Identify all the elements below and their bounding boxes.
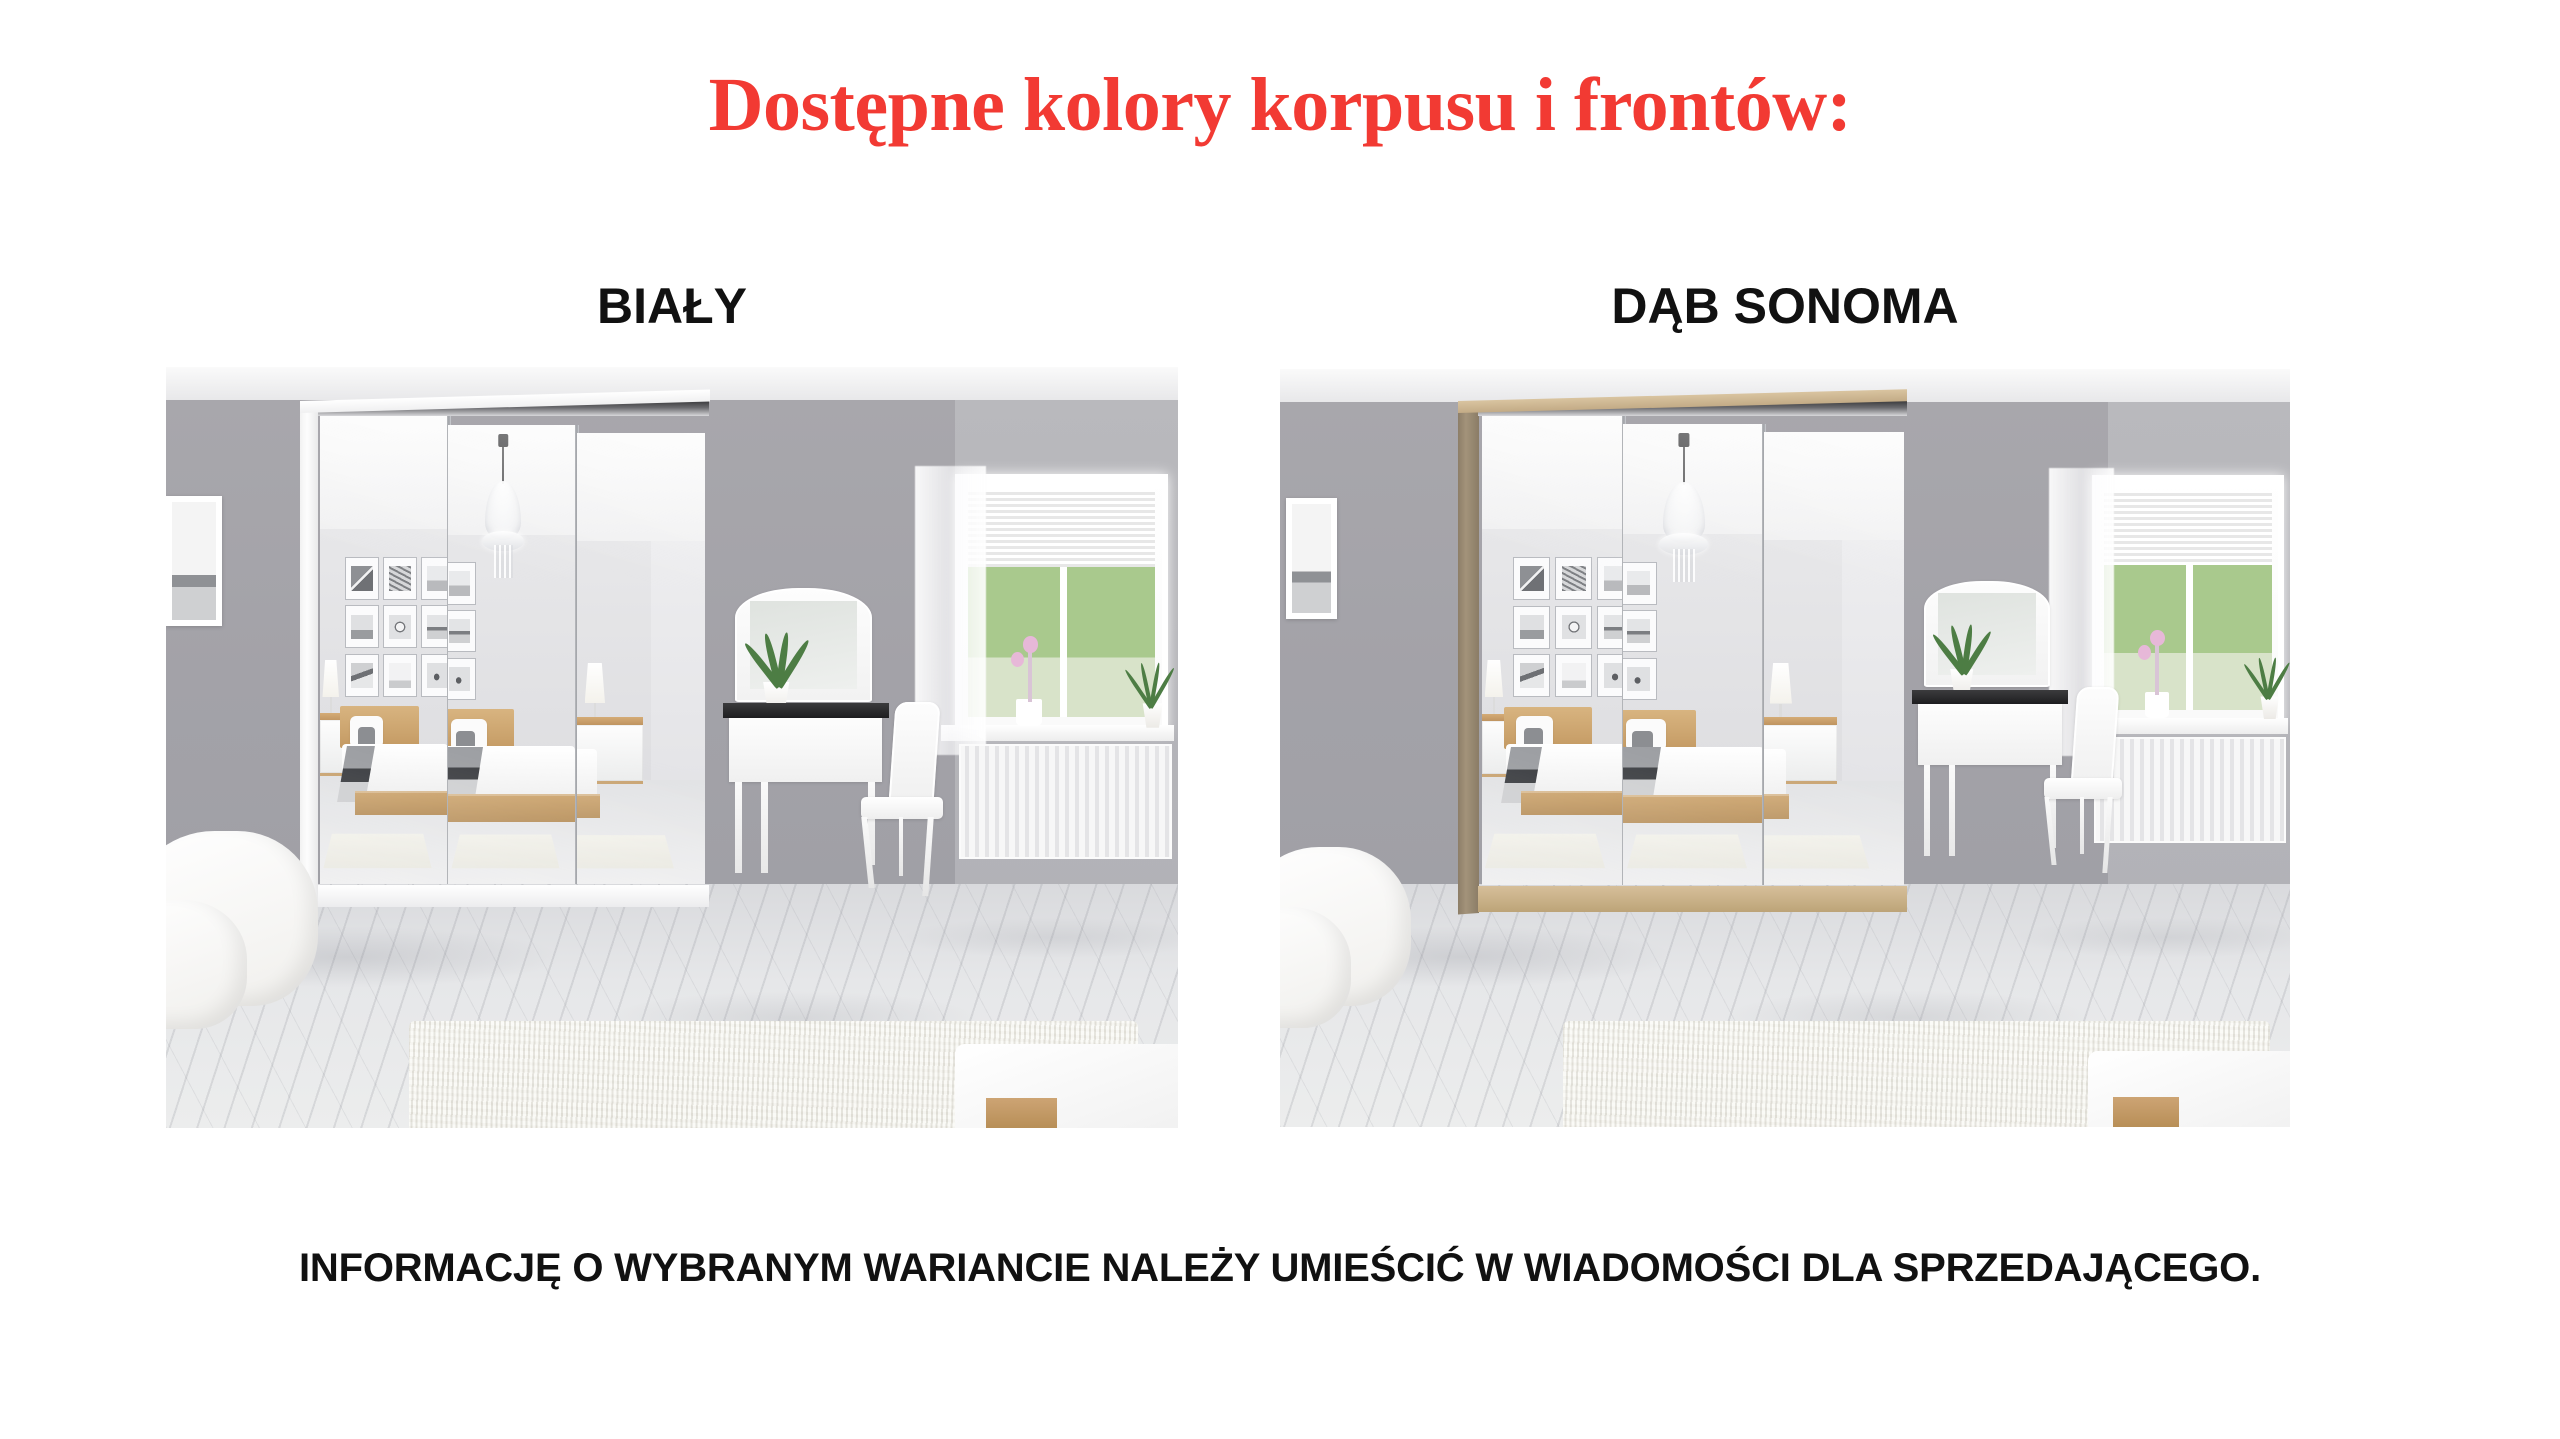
- mirror-reflection-3: [1764, 432, 1904, 885]
- picture-image: [1520, 566, 1544, 591]
- picture-image: [389, 663, 410, 688]
- reflected-rug: [1485, 834, 1605, 868]
- chandelier-crystals: [494, 545, 513, 577]
- vanity-leg: [1924, 765, 1930, 856]
- wall-art-frame: [166, 496, 222, 625]
- picture-frame: [1597, 606, 1623, 649]
- reflected-ceiling: [320, 416, 447, 538]
- mirror-door-3[interactable]: [577, 433, 705, 884]
- mirror-reflection-1: [1482, 416, 1623, 885]
- wardrobe-side-panel: [1458, 401, 1479, 914]
- wardrobe-plinth: [318, 885, 710, 907]
- reflected-side-wall: [1842, 540, 1903, 785]
- variant-label-sonoma: DĄB SONOMA: [1280, 277, 2290, 335]
- vanity-chair: [2038, 687, 2144, 877]
- reflected-dresser-top: [1764, 717, 1837, 725]
- reflected-lamp-shade: [585, 663, 605, 704]
- reflected-picture-grid: [345, 557, 447, 697]
- picture-frame: [383, 605, 416, 648]
- vanity-leg: [1949, 765, 1955, 856]
- mirror-door-3[interactable]: [1764, 432, 1904, 885]
- picture-frame: [421, 605, 447, 648]
- picture-image: [1604, 663, 1623, 688]
- picture-frame: [1623, 562, 1657, 604]
- chair-leg: [2080, 797, 2084, 854]
- radiator: [959, 744, 1172, 858]
- wardrobe-side-panel: [300, 401, 318, 908]
- reflected-rug: [577, 835, 674, 868]
- picture-frame: [421, 654, 447, 697]
- vanity-aloe-plant: [751, 632, 808, 687]
- mirror-reflection-2: [1623, 424, 1764, 885]
- picture-frame: [1513, 606, 1550, 649]
- reflected-ceiling: [1764, 432, 1904, 550]
- reflected-rug: [323, 833, 431, 867]
- picture-frame: [1623, 658, 1657, 700]
- reflected-bed-base: [1521, 791, 1623, 815]
- reflected-bed-base: [1764, 794, 1789, 818]
- wardrobe-front: [1478, 401, 1907, 913]
- picture-frame: [1555, 557, 1592, 600]
- picture-frame: [448, 562, 476, 604]
- picture-image: [1520, 615, 1544, 640]
- mirror-reflection-2: [448, 425, 575, 885]
- picture-frame: [383, 654, 416, 697]
- vanity-chair: [854, 702, 965, 900]
- color-variants-page: Dostępne kolory korpusu i frontów: BIAŁY…: [0, 0, 2560, 1439]
- picture-image: [449, 619, 470, 643]
- vanity-leg: [761, 782, 768, 873]
- chair-backrest: [2070, 687, 2119, 786]
- vanity-leg: [735, 782, 742, 873]
- picture-image: [1604, 615, 1623, 640]
- reflected-mattress: [1764, 749, 1786, 799]
- bed-corner-wood: [986, 1098, 1057, 1128]
- reflected-lamp-shade: [1485, 660, 1503, 697]
- picture-image: [351, 663, 372, 688]
- bedroom-scene-sonoma: [1280, 369, 2290, 1127]
- aloe-plant: [1133, 662, 1167, 708]
- mirror-reflection-3: [577, 433, 705, 884]
- wardrobe-plinth: [1478, 886, 1907, 913]
- picture-image: [1627, 667, 1651, 691]
- wall-art-image: [172, 502, 216, 619]
- variant-photo-white: [166, 367, 1178, 1128]
- chair-seat: [861, 797, 943, 819]
- wall-art-frame: [1286, 498, 1337, 619]
- reflected-chandelier: [1658, 433, 1709, 585]
- bedroom-scene-white: [166, 367, 1178, 1128]
- orchid-pot: [1016, 699, 1042, 726]
- picture-image: [351, 615, 372, 640]
- chandelier-crystals: [1673, 549, 1695, 582]
- wardrobe-white: [300, 401, 710, 907]
- chair-leg: [2103, 797, 2114, 873]
- picture-frame: [1555, 606, 1592, 649]
- reflected-side-wall: [651, 541, 705, 785]
- footer-note: INFORMACJĘ O WYBRANYM WARIANCIE NALEŻY U…: [0, 1246, 2560, 1291]
- chandelier-ceiling-cap: [498, 434, 507, 447]
- mirror-door-1[interactable]: [1482, 416, 1623, 885]
- orchid-bloom: [1011, 652, 1024, 667]
- aloe-plant: [2252, 657, 2284, 699]
- picture-frame: [421, 557, 447, 600]
- picture-image: [449, 571, 470, 595]
- reflected-rug: [1764, 836, 1870, 869]
- reflected-ceiling: [1482, 416, 1623, 538]
- mirror-door-2[interactable]: [1623, 424, 1764, 885]
- orchid-bloom: [2138, 645, 2151, 660]
- vanity-aloe-plant: [1939, 624, 1990, 674]
- reflected-mattress: [577, 749, 597, 799]
- picture-image: [1562, 615, 1586, 640]
- picture-image: [1627, 619, 1651, 643]
- chair-leg: [923, 817, 934, 896]
- chandelier-ceiling-cap: [1678, 433, 1689, 447]
- reflected-lamp-shade: [322, 660, 339, 697]
- reflected-nightstand: [1482, 721, 1507, 777]
- wardrobe-sonoma: [1458, 401, 1907, 913]
- chair-leg: [2045, 797, 2057, 865]
- mirror-reflection-1: [320, 416, 447, 884]
- reflected-bed-base: [1623, 795, 1764, 823]
- picture-frame: [1513, 654, 1550, 697]
- picture-image: [1520, 663, 1544, 688]
- picture-image: [427, 663, 447, 688]
- picture-frame: [1623, 610, 1657, 652]
- reflected-ceiling: [577, 433, 705, 550]
- variant-photo-sonoma: [1280, 369, 2290, 1127]
- picture-frame: [1597, 654, 1623, 697]
- mirror-door-1[interactable]: [320, 416, 447, 884]
- picture-image: [427, 566, 447, 591]
- reflected-picture-grid: [448, 562, 476, 700]
- picture-image: [1627, 571, 1651, 595]
- chair-leg: [899, 817, 903, 876]
- wall-art-image: [1292, 504, 1331, 613]
- reflected-lamp-shade: [1770, 663, 1792, 704]
- orchid-pot: [2145, 692, 2169, 718]
- picture-image: [389, 566, 410, 591]
- picture-frame: [383, 557, 416, 600]
- picture-image: [449, 667, 470, 691]
- orchid-bloom: [2150, 630, 2165, 647]
- reflected-rug: [452, 834, 560, 868]
- picture-frame: [1513, 557, 1550, 600]
- bed-corner-wood: [2113, 1097, 2179, 1127]
- page-title: Dostępne kolory korpusu i frontów:: [0, 62, 2560, 149]
- picture-frame: [1555, 654, 1592, 697]
- reflected-rug: [1627, 835, 1747, 869]
- reflected-picture-grid: [1513, 557, 1623, 698]
- picture-image: [427, 615, 447, 640]
- window-blinds: [2104, 490, 2273, 565]
- picture-frame: [1597, 557, 1623, 600]
- picture-frame: [345, 654, 378, 697]
- chair-backrest: [888, 702, 940, 805]
- reflected-picture-grid: [1623, 562, 1657, 700]
- reflected-dresser-top: [577, 717, 643, 725]
- reflected-bed-base: [448, 794, 575, 822]
- picture-frame: [345, 605, 378, 648]
- reflected-bed-base: [355, 791, 446, 815]
- picture-frame: [345, 557, 378, 600]
- chair-leg: [862, 817, 875, 888]
- picture-image: [1562, 566, 1586, 591]
- picture-image: [1562, 663, 1586, 688]
- window-blinds: [968, 489, 1155, 567]
- picture-image: [351, 566, 372, 591]
- picture-frame: [448, 658, 476, 700]
- picture-image: [1604, 566, 1623, 591]
- picture-frame: [448, 610, 476, 652]
- wardrobe-front: [318, 401, 710, 907]
- mirror-door-2[interactable]: [448, 425, 575, 885]
- picture-image: [389, 615, 410, 640]
- variant-label-white: BIAŁY: [166, 277, 1178, 335]
- reflected-bed-base: [577, 794, 600, 818]
- reflected-chandelier: [481, 434, 524, 581]
